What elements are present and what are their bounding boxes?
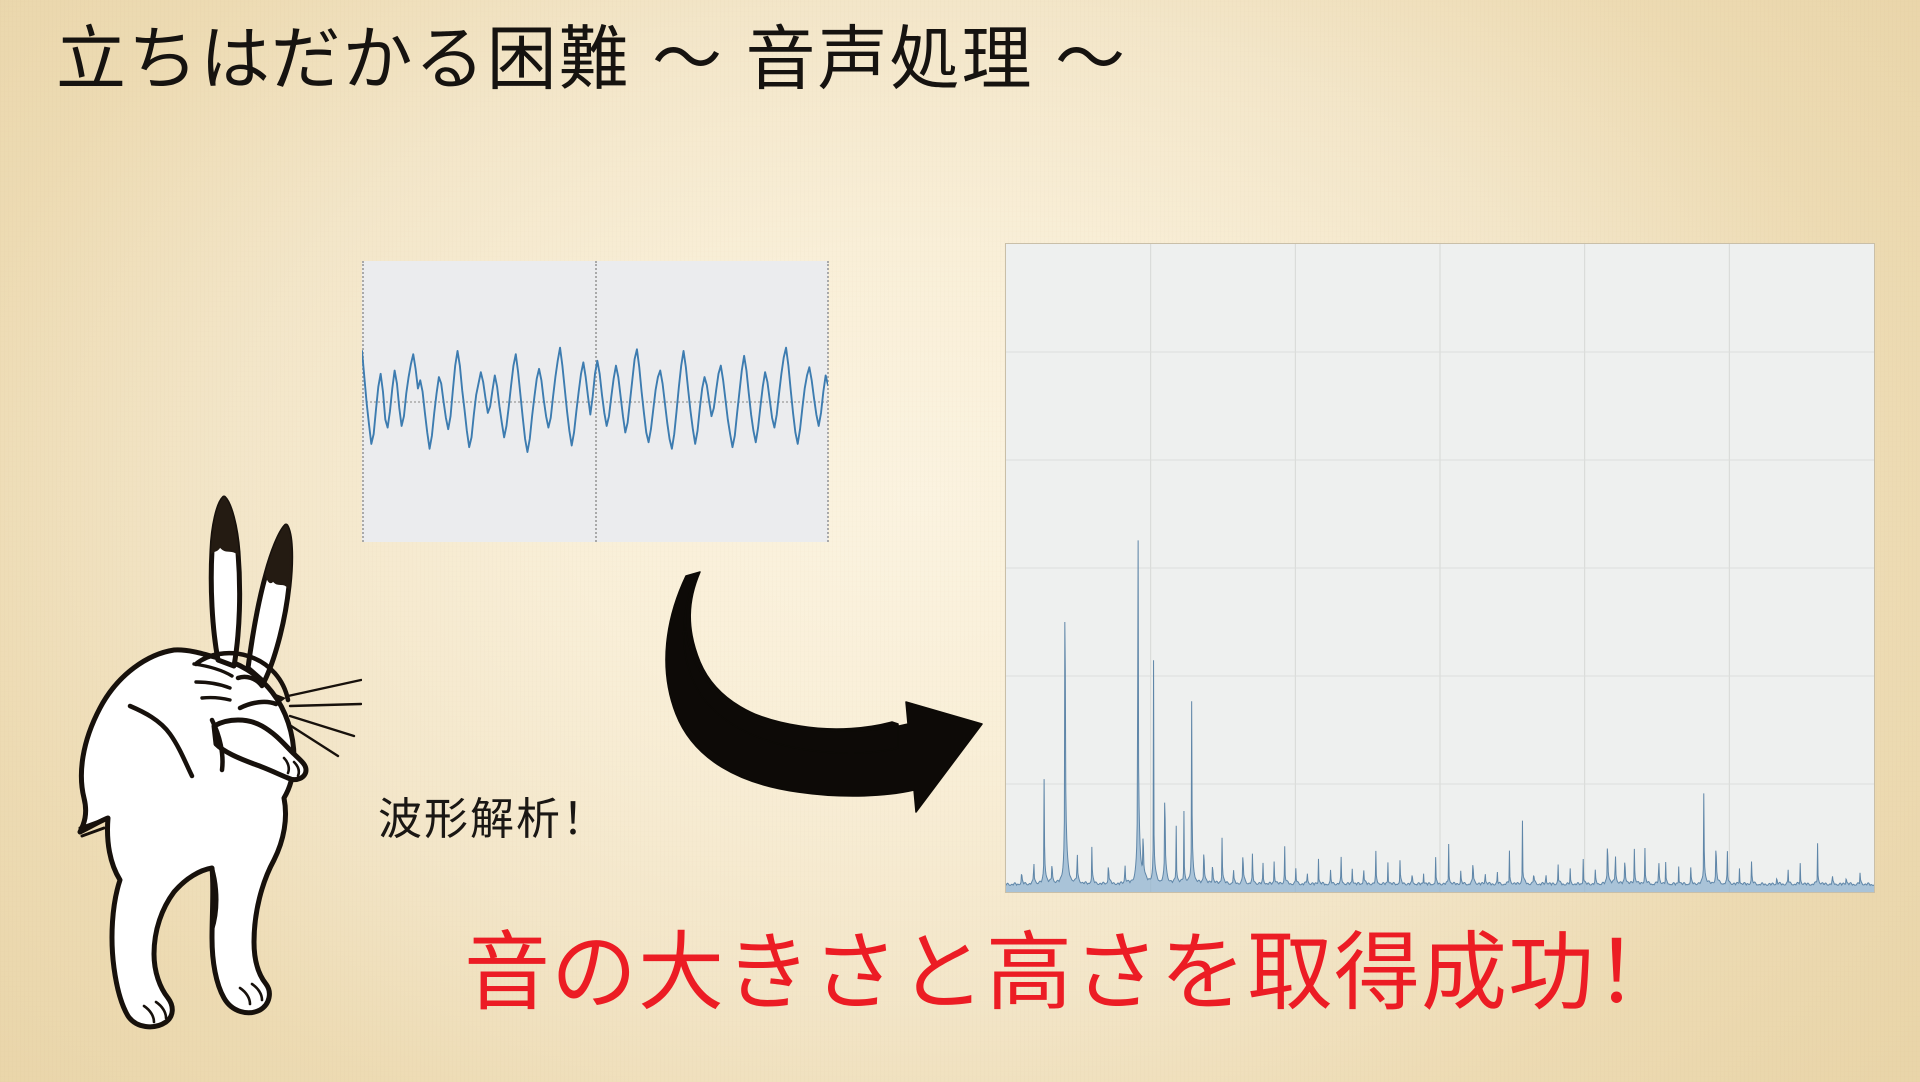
rabbit-body-group bbox=[80, 498, 361, 1027]
spectrum-chart-panel bbox=[1005, 243, 1875, 893]
waveform-chart-panel bbox=[362, 261, 828, 542]
spectrum-gridlines bbox=[1006, 244, 1874, 892]
conclusion-text: 音の大きさと高さを取得成功！ bbox=[464, 930, 1682, 1016]
waveform-caption-label: 波形解析！ bbox=[378, 783, 608, 847]
rabbit-whiskers bbox=[288, 680, 361, 756]
page-title: 立ちはだかる困難 〜 音声処理 〜 bbox=[56, 22, 1127, 98]
spectrum-plot bbox=[1006, 244, 1874, 892]
waveform-plot bbox=[362, 261, 828, 542]
rabbit-body bbox=[80, 650, 294, 1027]
rabbit-illustration bbox=[62, 468, 362, 1033]
curved-arrow-icon bbox=[630, 556, 990, 846]
slide-canvas: 立ちはだかる困難 〜 音声処理 〜 bbox=[0, 0, 1920, 1082]
rabbit-ear-left-tip bbox=[212, 498, 238, 554]
arrow-shape bbox=[666, 572, 982, 812]
